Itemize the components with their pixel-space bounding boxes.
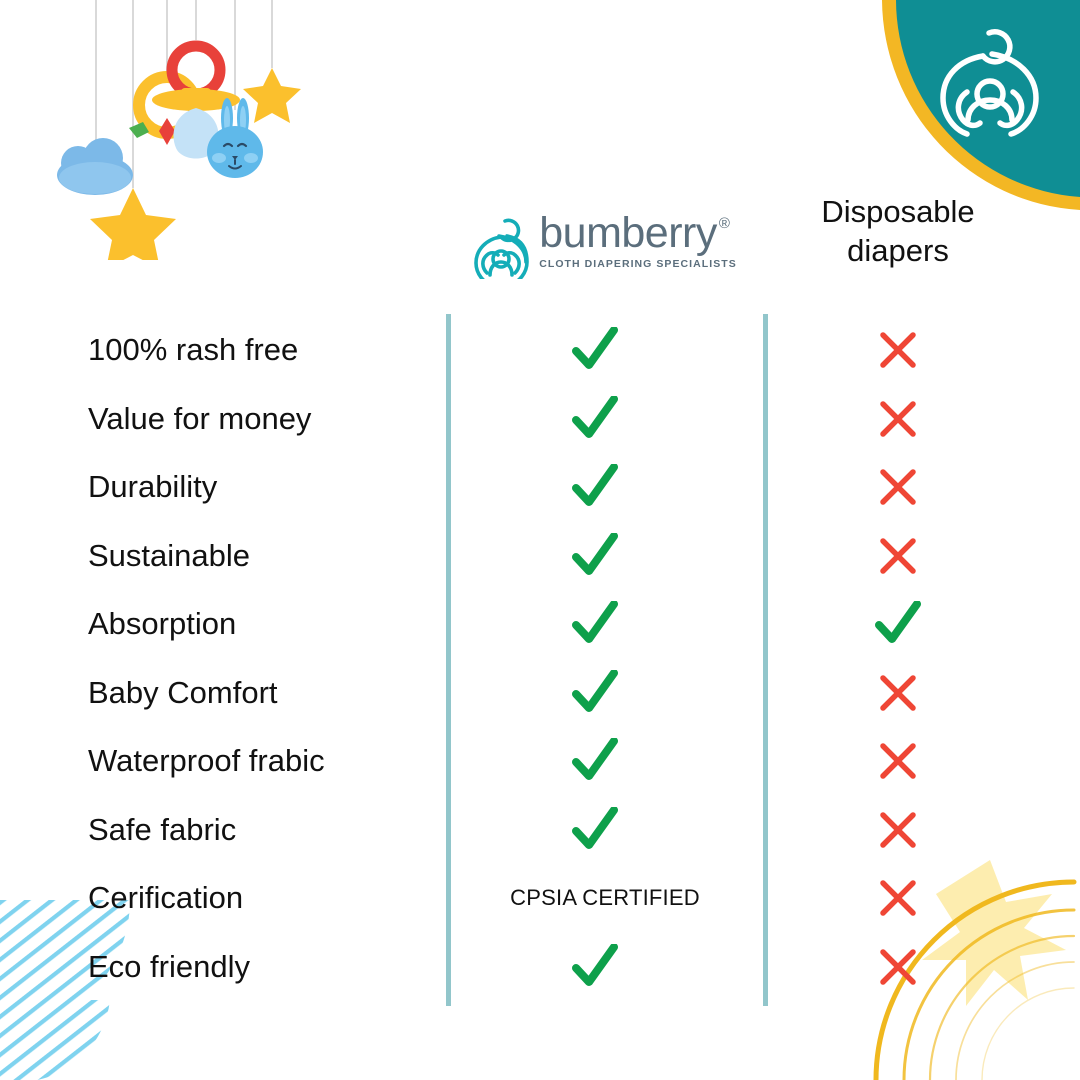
- cross-icon: [879, 331, 917, 369]
- brand-name: bumberry: [539, 213, 717, 254]
- cell-bumberry: [535, 601, 655, 647]
- table-row: Absorption: [0, 590, 1080, 659]
- comparison-table: 100% rash freeValue for moneyDurabilityS…: [0, 316, 1080, 1001]
- feature-label: Absorption: [88, 606, 236, 642]
- cell-disposable: [838, 811, 958, 849]
- cross-icon: [879, 400, 917, 438]
- feature-label: Safe fabric: [88, 812, 236, 848]
- table-row: Sustainable: [0, 522, 1080, 591]
- cell-disposable: [838, 468, 958, 506]
- cell-bumberry: CPSIA CERTIFIED: [445, 885, 765, 911]
- disposable-line-1: Disposable: [768, 192, 1028, 231]
- cross-icon: [879, 742, 917, 780]
- check-icon: [572, 533, 618, 579]
- cell-disposable: [838, 742, 958, 780]
- cell-disposable: [838, 601, 958, 647]
- cell-bumberry: [535, 738, 655, 784]
- check-icon: [572, 327, 618, 373]
- cell-bumberry: [535, 396, 655, 442]
- feature-label: Baby Comfort: [88, 675, 278, 711]
- cell-bumberry: [535, 533, 655, 579]
- cross-icon: [879, 948, 917, 986]
- baby-mobile-decoration: [0, 0, 360, 260]
- comparison-infographic: bumberry ® CLOTH DIAPERING SPECIALISTS D…: [0, 0, 1080, 1080]
- cell-disposable: [838, 400, 958, 438]
- cell-disposable: [838, 537, 958, 575]
- check-icon: [572, 738, 618, 784]
- cell-disposable: [838, 948, 958, 986]
- table-row: Safe fabric: [0, 796, 1080, 865]
- cross-icon: [879, 879, 917, 917]
- cell-disposable: [838, 879, 958, 917]
- cloud-icon: [57, 138, 133, 195]
- table-row: Eco friendly: [0, 933, 1080, 1002]
- column-header-disposable-diapers: Disposable diapers: [768, 192, 1028, 270]
- check-icon: [572, 670, 618, 716]
- disposable-line-2: diapers: [768, 231, 1028, 270]
- table-row: Waterproof frabic: [0, 727, 1080, 796]
- certification-label: CPSIA CERTIFIED: [510, 885, 700, 910]
- table-row: Value for money: [0, 385, 1080, 454]
- check-icon: [572, 464, 618, 510]
- feature-label: 100% rash free: [88, 332, 298, 368]
- cross-icon: [879, 537, 917, 575]
- check-icon: [572, 396, 618, 442]
- check-icon: [875, 601, 921, 647]
- table-row: 100% rash free: [0, 316, 1080, 385]
- cross-icon: [879, 811, 917, 849]
- cell-bumberry: [535, 327, 655, 373]
- cross-icon: [879, 674, 917, 712]
- check-icon: [572, 807, 618, 853]
- cell-bumberry: [535, 670, 655, 716]
- check-icon: [572, 944, 618, 990]
- cell-bumberry: [535, 464, 655, 510]
- star-icon-small: [243, 68, 301, 123]
- cell-disposable: [838, 674, 958, 712]
- feature-label: Value for money: [88, 401, 311, 437]
- registered-trademark-icon: ®: [719, 215, 730, 232]
- feature-label: Waterproof frabic: [88, 743, 325, 779]
- table-row: CerificationCPSIA CERTIFIED: [0, 864, 1080, 933]
- table-row: Baby Comfort: [0, 659, 1080, 728]
- column-header-bumberry: bumberry ® CLOTH DIAPERING SPECIALISTS: [450, 196, 760, 296]
- mother-baby-badge: [820, 0, 1080, 210]
- feature-label: Cerification: [88, 880, 243, 916]
- cell-disposable: [838, 331, 958, 369]
- cell-bumberry: [535, 807, 655, 853]
- bumberry-mother-baby-logo-icon: [473, 217, 529, 279]
- brand-tagline: CLOTH DIAPERING SPECIALISTS: [539, 258, 737, 270]
- table-row: Durability: [0, 453, 1080, 522]
- feature-label: Sustainable: [88, 538, 250, 574]
- feature-label: Durability: [88, 469, 217, 505]
- cross-icon: [879, 468, 917, 506]
- feature-label: Eco friendly: [88, 949, 250, 985]
- star-icon-large: [90, 188, 176, 260]
- check-icon: [572, 601, 618, 647]
- bumberry-logo-lockup: bumberry ® CLOTH DIAPERING SPECIALISTS: [473, 213, 737, 279]
- cell-bumberry: [535, 944, 655, 990]
